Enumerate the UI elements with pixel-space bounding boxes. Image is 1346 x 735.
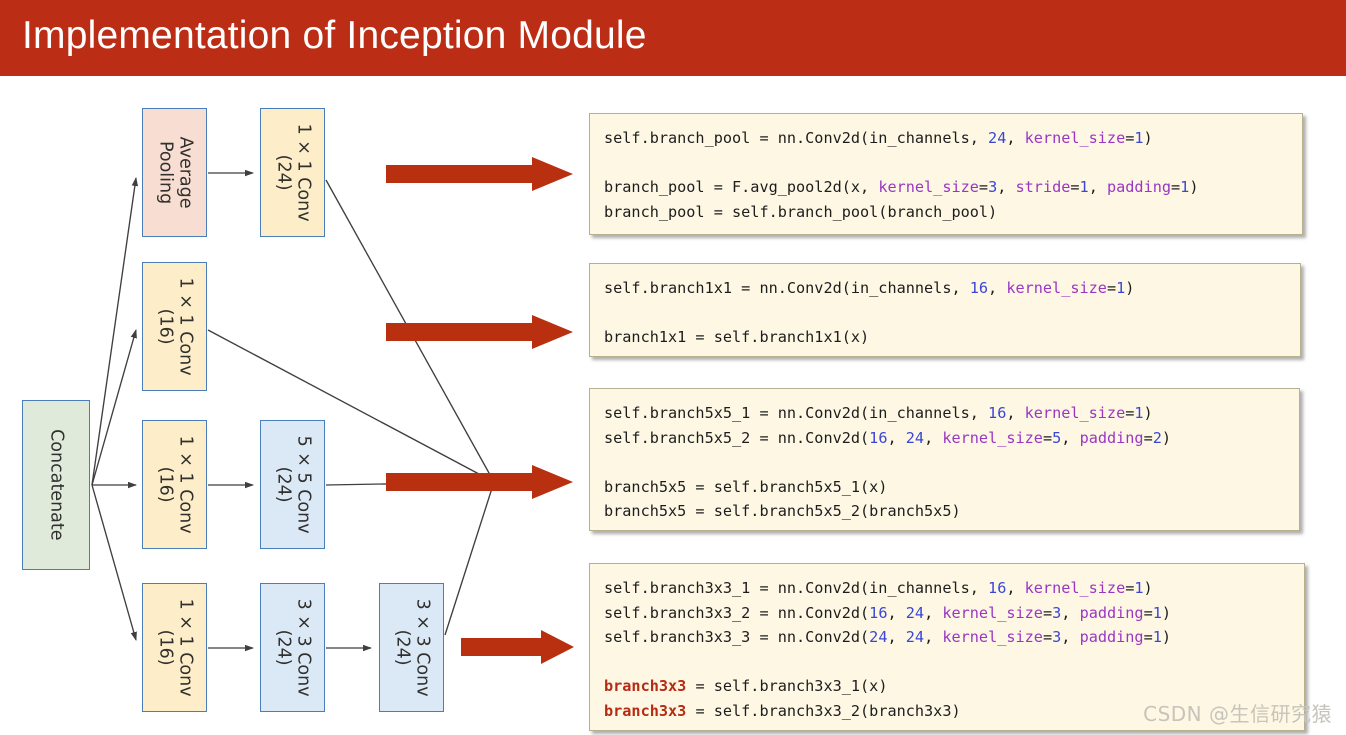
node-conv1x1-16-b[interactable]: 1 × 1 Conv(16) xyxy=(142,420,207,549)
node-conv5x5-24-label: 5 × 5 Conv(24) xyxy=(273,436,312,534)
node-conv3x3-24-a[interactable]: 3 × 3 Conv(24) xyxy=(260,583,325,712)
node-conv1x1-16-c-label: 1 × 1 Conv(16) xyxy=(155,599,194,697)
node-concatenate[interactable]: Concatenate xyxy=(22,400,90,570)
pointer-arrow-branch3x3 xyxy=(461,630,574,664)
node-conv3x3-24-b-label: 3 × 3 Conv(24) xyxy=(392,599,431,697)
node-conv1x1-24[interactable]: 1 × 1 Conv(24) xyxy=(260,108,325,237)
slide-canvas: Implementation of Inception Module xyxy=(0,0,1346,735)
node-conv5x5-24[interactable]: 5 × 5 Conv(24) xyxy=(260,420,325,549)
node-conv3x3-24-b[interactable]: 3 × 3 Conv(24) xyxy=(379,583,444,712)
node-concatenate-label: Concatenate xyxy=(46,429,66,540)
pointer-arrow-branch5x5 xyxy=(386,465,573,499)
node-average-pooling-label: AveragePooling xyxy=(155,137,194,209)
pointer-arrow-branch1x1 xyxy=(386,315,573,349)
node-conv1x1-16-b-label: 1 × 1 Conv(16) xyxy=(155,436,194,534)
csdn-watermark: CSDN @生信研究猿 xyxy=(1143,698,1332,727)
code-block-branch1x1[interactable]: self.branch1x1 = nn.Conv2d(in_channels, … xyxy=(589,263,1301,357)
node-conv1x1-16-a[interactable]: 1 × 1 Conv(16) xyxy=(142,262,207,391)
pointer-arrow-branch-pool xyxy=(386,157,573,191)
page-title: Implementation of Inception Module xyxy=(22,2,647,70)
node-conv1x1-16-c[interactable]: 1 × 1 Conv(16) xyxy=(142,583,207,712)
node-average-pooling[interactable]: AveragePooling xyxy=(142,108,207,237)
slide-title-bar: Implementation of Inception Module xyxy=(0,0,1346,76)
node-conv3x3-24-a-label: 3 × 3 Conv(24) xyxy=(273,599,312,697)
node-conv1x1-16-a-label: 1 × 1 Conv(16) xyxy=(155,278,194,376)
node-conv1x1-24-label: 1 × 1 Conv(24) xyxy=(273,124,312,222)
code-block-branch-pool[interactable]: self.branch_pool = nn.Conv2d(in_channels… xyxy=(589,113,1303,235)
code-block-branch5x5[interactable]: self.branch5x5_1 = nn.Conv2d(in_channels… xyxy=(589,388,1300,531)
